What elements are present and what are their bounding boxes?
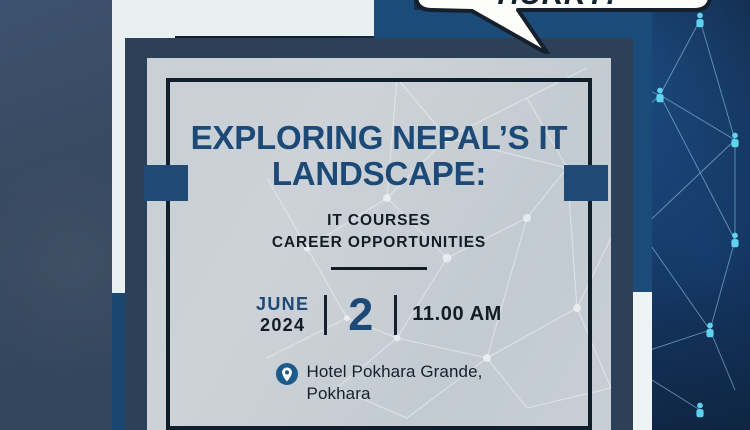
venue-text: Hotel Pokhara Grande, Pokhara xyxy=(307,361,483,404)
subtitle: IT COURSES CAREER OPPORTUNITIES xyxy=(186,210,572,254)
divider-vertical-left xyxy=(324,295,327,335)
divider-rule xyxy=(331,267,427,270)
light-strip-top xyxy=(175,0,374,36)
date-time-row: JUNE 2024 2 11.00 AM xyxy=(186,292,572,337)
poster-content: EXPLORING NEPAL’S IT LANDSCAPE: IT COURS… xyxy=(166,78,592,430)
page-title: EXPLORING NEPAL’S IT LANDSCAPE: xyxy=(186,120,572,191)
subtitle-line-1: IT COURSES xyxy=(186,210,572,232)
speech-bubble-label: HURRY! xyxy=(442,0,672,12)
event-month: JUNE xyxy=(256,294,309,315)
venue-block: Hotel Pokhara Grande, Pokhara xyxy=(186,361,572,404)
divider-vertical-right xyxy=(394,295,397,335)
event-year: 2024 xyxy=(256,315,309,336)
event-poster: HURRY! EXPLORING NEPAL’S IT LANDSCAPE: I… xyxy=(0,0,750,430)
venue-line-2: Pokhara xyxy=(307,383,483,404)
subtitle-line-2: CAREER OPPORTUNITIES xyxy=(186,232,572,254)
event-day: 2 xyxy=(342,292,379,337)
venue-line-1: Hotel Pokhara Grande, xyxy=(307,361,483,382)
speech-bubble: HURRY! xyxy=(398,0,728,54)
event-time: 11.00 AM xyxy=(412,303,502,326)
month-year-block: JUNE 2024 xyxy=(256,294,309,335)
left-navy-panel xyxy=(0,0,112,430)
map-pin-icon xyxy=(276,363,298,389)
